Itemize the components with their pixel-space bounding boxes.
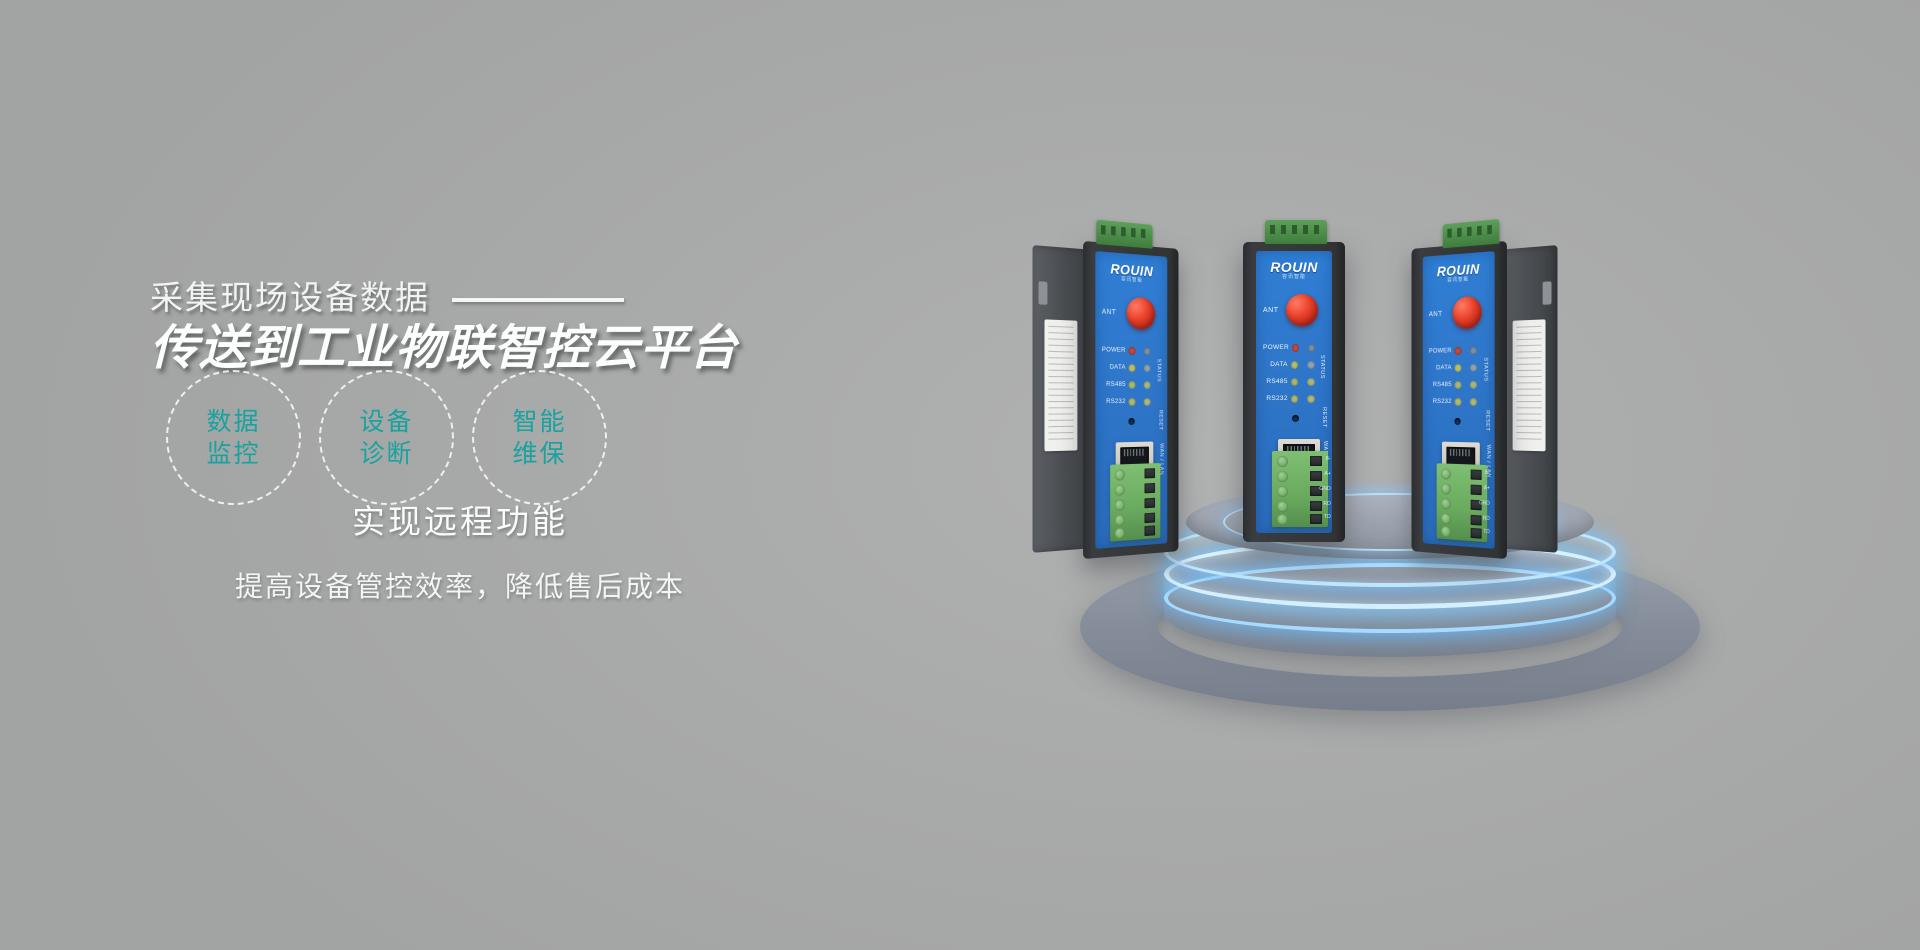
led-data-icon [1128,363,1135,371]
power-terminal-block-top [1443,219,1500,248]
terminal-pin: A+ [1310,471,1322,481]
led-label: DATA [1102,363,1126,370]
led-row-data: DATA [1102,358,1160,376]
led-label: RS232 [1263,395,1288,402]
eyebrow-row: 采集现场设备数据 [150,280,890,316]
led-row-data: DATA [1429,358,1487,376]
led-data-icon [1454,363,1461,371]
badge-line-1: 数据 [206,406,260,438]
feature-badges: 数据 监控 设备 诊断 智能 维保 [166,370,607,505]
led-rs485-icon [1128,380,1135,388]
terminal-screw [1441,498,1451,509]
terminal-pin-label: A+ [1324,471,1331,477]
led-power-aux-icon [1470,346,1477,354]
product-stage: ROUIN 容讯智能 ANT STATUS POWER DATA [1005,215,1775,705]
led-label: RS485 [1429,381,1452,388]
led-row-power: POWER [1263,339,1324,356]
device-faceplate: ROUIN 容讯智能 ANT STATUS POWER DATA [1095,251,1167,549]
led-row-data: DATA [1263,356,1324,373]
reset-button[interactable] [1128,418,1134,425]
terminal-screw [1115,499,1125,511]
antenna-label: ANT [1102,309,1116,317]
led-power-icon [1454,346,1461,354]
din-rail-clip [1039,281,1048,305]
terminal-pin-label: B- [1485,470,1490,476]
led-power-aux-icon [1144,347,1151,355]
brand-subtitle-text: 容讯智能 [1256,275,1332,280]
led-rs232-aux-icon [1144,398,1151,406]
reset-label: RESET [1321,407,1327,428]
led-data-icon [1291,361,1299,369]
terminal-pin [1144,525,1155,536]
led-indicator-group: STATUS POWER DATA RS485 [1429,341,1487,410]
reset-button[interactable] [1454,418,1460,425]
device-spec-label [1513,319,1546,451]
led-row-rs232: RS232 [1429,393,1487,410]
copy-block: 采集现场设备数据 传送到工业物联智控云平台 [150,280,890,376]
led-rs232-icon [1128,397,1135,405]
terminal-pin [1144,483,1155,493]
device-side-panel [1501,245,1557,553]
device-faceplate: ROUIN 容讯智能 ANT STATUS POWER DATA [1423,251,1495,549]
terminal-pin [1144,513,1155,524]
terminal-screw [1277,471,1288,482]
terminal-pin: GND [1310,486,1322,496]
terminal-screw [1115,527,1125,539]
terminal-pin-label: B- [1326,456,1331,462]
power-terminal-block-top [1265,220,1327,244]
led-row-power: POWER [1102,341,1160,360]
terminal-pin: A+ [1471,485,1482,496]
terminal-pin: TD [1310,514,1322,524]
led-row-rs485: RS485 [1263,373,1324,390]
badge-line-2: 维保 [512,438,566,470]
led-label: RS232 [1429,398,1452,405]
led-data-aux-icon [1307,361,1315,369]
badge-smart-maintenance[interactable]: 智能 维保 [472,370,607,505]
led-power-icon [1292,344,1299,352]
led-rs232-icon [1454,397,1461,405]
reset-button[interactable] [1292,415,1299,422]
sub-copy-block: 实现远程功能 提高设备管控效率，降低售后成本 [150,495,770,605]
badge-line-2: 监控 [206,438,260,470]
terminal-pin-label: GND [1319,486,1331,492]
device-faceplate: ROUIN 容讯智能 ANT STATUS POWER DATA [1256,251,1332,533]
terminal-screw [1441,468,1451,479]
led-power-icon [1128,346,1135,354]
led-rs232-aux-icon [1307,395,1315,403]
device-side-panel [1033,245,1089,553]
reset-label: RESET [1484,410,1490,431]
antenna-connector-icon[interactable] [1286,294,1318,326]
gateway-device-center[interactable]: ROUIN 容讯智能 ANT STATUS POWER DATA [1243,242,1345,542]
terminal-pin-label: RD [1483,516,1490,523]
led-data-aux-icon [1470,363,1477,371]
led-rs232-aux-icon [1470,397,1477,405]
terminal-screw [1277,501,1288,512]
badge-line-1: 设备 [359,406,413,438]
terminal-screw [1277,486,1288,497]
power-terminal-block-top [1096,220,1152,249]
terminal-screw [1441,526,1451,538]
din-rail-clip [1543,281,1552,305]
terminal-screw [1277,456,1288,467]
led-label: DATA [1263,361,1288,368]
led-indicator-group: STATUS POWER DATA RS485 [1102,341,1160,410]
antenna-connector-icon[interactable] [1127,297,1155,330]
device-spec-label [1044,319,1077,451]
led-label: RS485 [1102,381,1126,388]
terminal-pin: TD [1471,528,1482,539]
status-group-label: STATUS [1483,357,1489,381]
headline-text: 传送到工业物联智控云平台 [150,322,890,376]
terminal-pin [1144,498,1155,508]
led-label: POWER [1263,344,1289,351]
sub-title-text: 实现远程功能 [150,495,770,543]
status-group-label: STATUS [1156,359,1161,383]
eyebrow-text: 采集现场设备数据 [150,280,430,316]
hero-banner: 采集现场设备数据 传送到工业物联智控云平台 数据 监控 设备 诊断 智能 维保 … [0,0,1920,950]
led-data-aux-icon [1144,364,1151,372]
led-rs485-icon [1454,380,1461,388]
eyebrow-rule [452,298,624,302]
terminal-pin: B- [1310,456,1322,466]
antenna-label: ANT [1263,307,1279,314]
serial-terminal-block[interactable]: B- A+ GND RD TD [1272,451,1328,527]
sub-desc-text: 提高设备管控效率，降低售后成本 [150,565,770,605]
led-label: POWER [1429,347,1452,355]
serial-terminal-block[interactable]: B- A+ GND RD TD [1437,463,1488,542]
badge-device-diagnosis[interactable]: 设备 诊断 [319,370,454,505]
led-rs485-aux-icon [1470,380,1477,388]
terminal-screw [1115,484,1125,496]
terminal-pin: RD [1471,515,1482,526]
led-label: DATA [1429,364,1452,371]
led-label: POWER [1102,346,1126,354]
led-label: RS485 [1263,378,1288,385]
reset-label: RESET [1158,410,1163,431]
antenna-connector-icon[interactable] [1453,296,1482,330]
terminal-screw [1115,469,1125,480]
terminal-screw [1115,514,1125,526]
led-row-rs485: RS485 [1429,376,1487,393]
terminal-pin: GND [1471,500,1482,511]
led-rs232-icon [1291,395,1299,403]
terminal-pin-label: GND [1479,500,1490,507]
led-rs485-icon [1291,378,1299,386]
terminal-pin: B- [1471,469,1482,480]
serial-terminal-block[interactable] [1110,463,1160,542]
led-power-aux-icon [1308,344,1315,352]
led-rs485-aux-icon [1144,381,1151,389]
terminal-screw [1441,483,1451,494]
led-row-rs232: RS232 [1102,393,1160,410]
led-label: RS232 [1102,398,1126,405]
led-row-rs232: RS232 [1263,390,1324,407]
antenna-label: ANT [1429,311,1443,319]
terminal-pin-label: TD [1324,514,1331,520]
badge-line-2: 诊断 [359,438,413,470]
terminal-pin-label: RD [1323,501,1331,507]
badge-data-monitoring[interactable]: 数据 监控 [166,370,301,505]
led-row-power: POWER [1429,341,1487,360]
led-row-rs485: RS485 [1102,376,1160,393]
terminal-screw [1277,514,1288,525]
status-group-label: STATUS [1319,355,1325,379]
led-indicator-group: STATUS POWER DATA RS485 [1263,339,1324,407]
terminal-pin: RD [1310,501,1322,511]
terminal-pin [1144,468,1155,478]
brand-logo-text: ROUIN [1256,260,1332,274]
terminal-pin-label: A+ [1484,485,1490,491]
terminal-screw [1441,513,1451,525]
gateway-device-right[interactable]: ROUIN 容讯智能 ANT STATUS POWER DATA [1412,241,1507,559]
badge-line-1: 智能 [512,406,566,438]
terminal-pin-label: TD [1483,529,1490,536]
gateway-device-left[interactable]: ROUIN 容讯智能 ANT STATUS POWER DATA [1083,241,1178,559]
led-rs485-aux-icon [1307,378,1315,386]
